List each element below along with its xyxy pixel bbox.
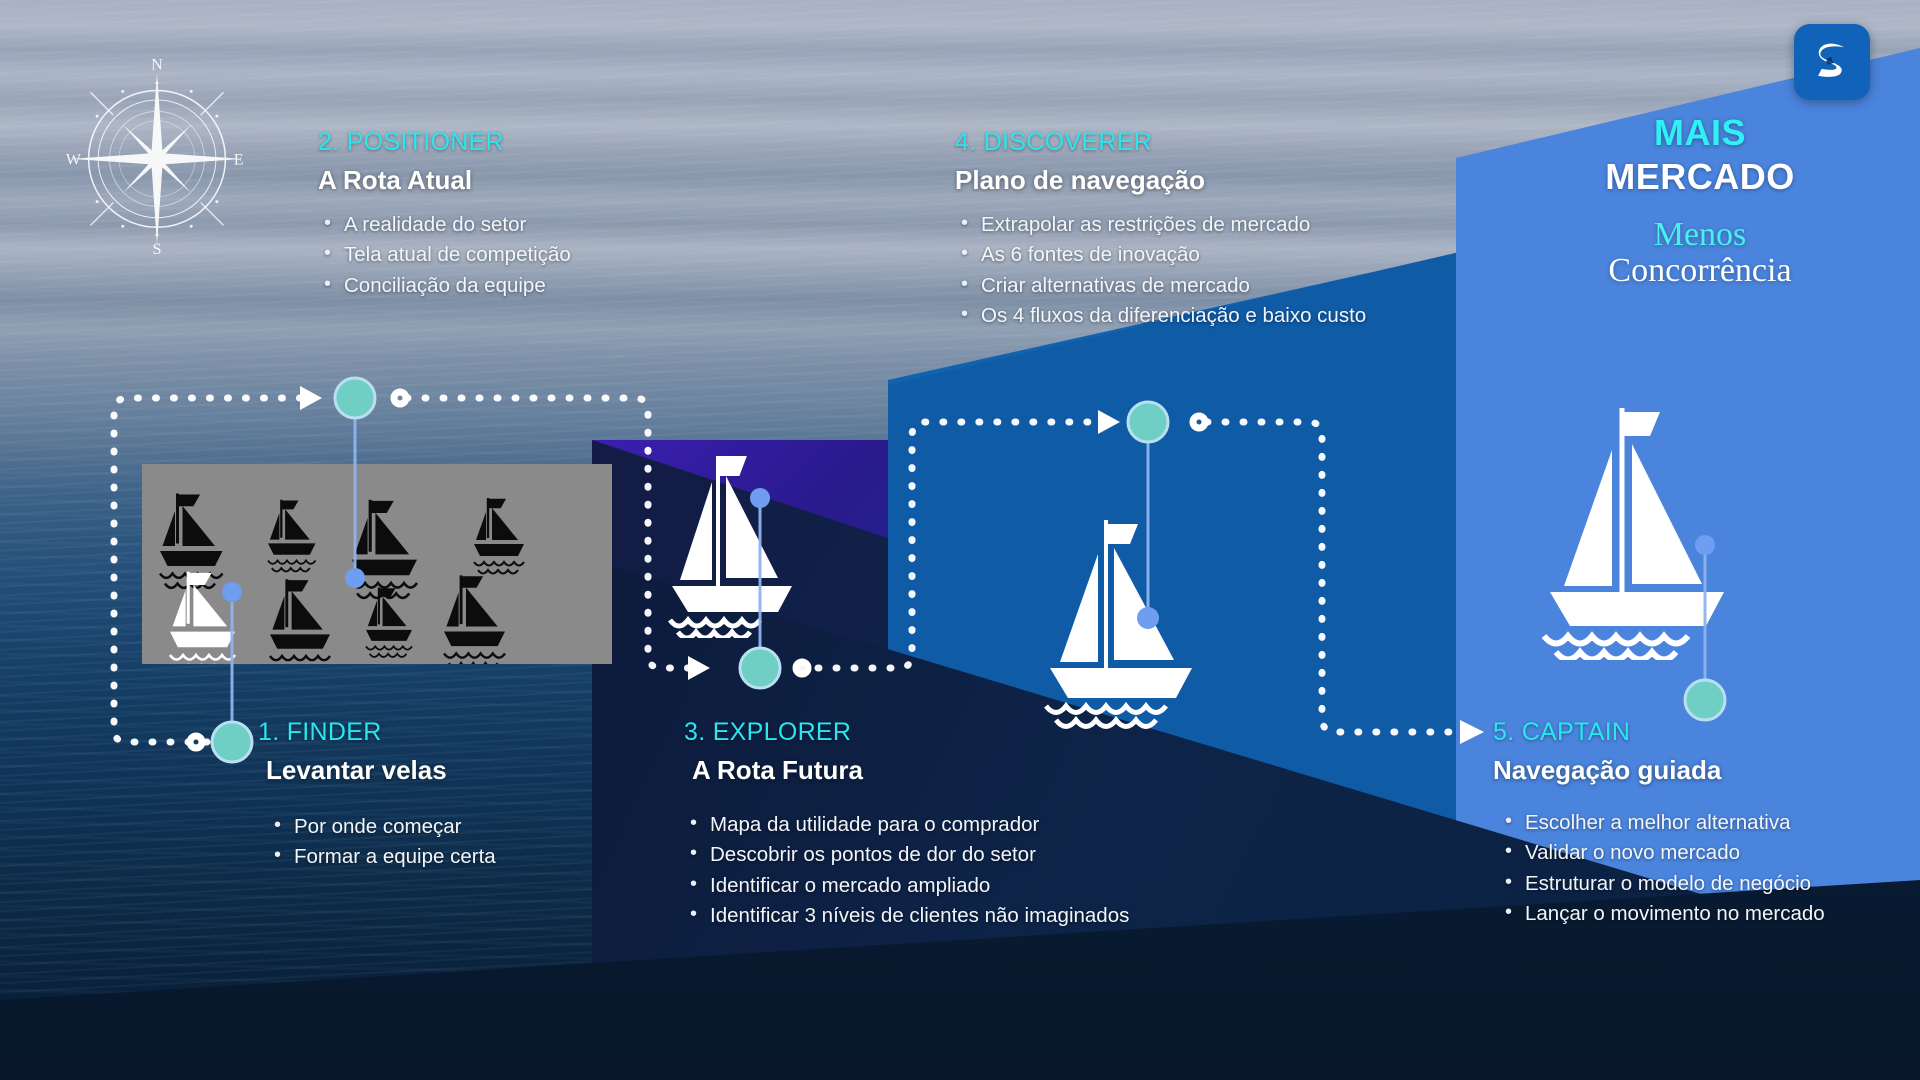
list-item: Tela atual de competição [318, 240, 738, 270]
dotted-path-2 [407, 398, 700, 668]
stage-kicker-discoverer: 4. DISCOVERER [955, 128, 1475, 157]
stage-title-finder: Levantar velas [266, 755, 638, 786]
list-item: Identificar 3 níveis de clientes não ima… [684, 901, 1244, 931]
stage-node-explorer[interactable] [740, 648, 780, 688]
stage-bullets-captain: Escolher a melhor alternativa Validar o … [1499, 808, 1913, 929]
list-item: Por onde começar [268, 812, 638, 842]
list-item: Mapa da utilidade para o comprador [684, 810, 1244, 840]
stage-node-discoverer[interactable] [1128, 402, 1168, 442]
list-item: Escolher a melhor alternativa [1499, 808, 1913, 838]
dotted-path-1 [114, 398, 300, 742]
list-item: Descobrir os pontos de dor do setor [684, 840, 1244, 870]
stage-bullets-explorer: Mapa da utilidade para o comprador Desco… [684, 810, 1244, 931]
stage-title-positioner: A Rota Atual [318, 165, 738, 196]
stage-block-finder: 1. FINDER Levantar velas Por onde começa… [258, 718, 638, 873]
infographic-canvas: N E S W [0, 0, 1920, 1080]
hero-line-mercado: MERCADO [1540, 156, 1860, 198]
list-item: Estruturar o modelo de negócio [1499, 869, 1913, 899]
stage-title-explorer: A Rota Futura [692, 755, 1244, 786]
path-ring-nodes [190, 392, 1205, 748]
stage-bullets-positioner: A realidade do setor Tela atual de compe… [318, 210, 738, 301]
stage-node-captain[interactable] [1685, 680, 1725, 720]
list-item: Extrapolar as restrições de mercado [955, 210, 1475, 240]
list-item: Validar o novo mercado [1499, 838, 1913, 868]
node-stem-dots [222, 488, 1715, 629]
stage-kicker-captain: 5. CAPTAIN [1493, 718, 1913, 747]
stage-title-captain: Navegação guiada [1493, 755, 1913, 786]
dotted-path-4 [1207, 422, 1462, 732]
hero-line-menos: Menos [1540, 216, 1860, 254]
hero-message: MAIS MERCADO Menos Concorrência [1540, 112, 1860, 290]
stage-nodes[interactable] [212, 378, 1725, 762]
stage-node-finder[interactable] [212, 722, 252, 762]
path-arrowheads [300, 386, 1484, 744]
hero-line-concorrencia: Concorrência [1540, 252, 1860, 290]
stage-block-captain: 5. CAPTAIN Navegação guiada Escolher a m… [1493, 718, 1913, 929]
stage-block-explorer: 3. EXPLORER A Rota Futura Mapa da utilid… [684, 718, 1244, 931]
node-stems [232, 402, 1705, 736]
stage-kicker-explorer: 3. EXPLORER [684, 718, 1244, 747]
stage-node-positioner[interactable] [335, 378, 375, 418]
dotted-path-3 [800, 422, 1098, 668]
list-item: Criar alternativas de mercado [955, 271, 1475, 301]
hero-line-mais: MAIS [1540, 112, 1860, 154]
list-item: Formar a equipe certa [268, 842, 638, 872]
list-item: A realidade do setor [318, 210, 738, 240]
stage-block-positioner: 2. POSITIONER A Rota Atual A realidade d… [318, 128, 738, 301]
stage-bullets-discoverer: Extrapolar as restrições de mercado As 6… [955, 210, 1475, 331]
list-item: Lançar o movimento no mercado [1499, 899, 1913, 929]
list-item: Identificar o mercado ampliado [684, 871, 1244, 901]
stage-kicker-positioner: 2. POSITIONER [318, 128, 738, 157]
list-item: Conciliação da equipe [318, 271, 738, 301]
list-item: As 6 fontes de inovação [955, 240, 1475, 270]
stage-kicker-finder: 1. FINDER [258, 718, 638, 747]
stage-block-discoverer: 4. DISCOVERER Plano de navegação Extrapo… [955, 128, 1475, 331]
stage-bullets-finder: Por onde começar Formar a equipe certa [268, 812, 638, 873]
list-item: Os 4 fluxos da diferenciação e baixo cus… [955, 301, 1475, 331]
stage-title-discoverer: Plano de navegação [955, 165, 1475, 196]
